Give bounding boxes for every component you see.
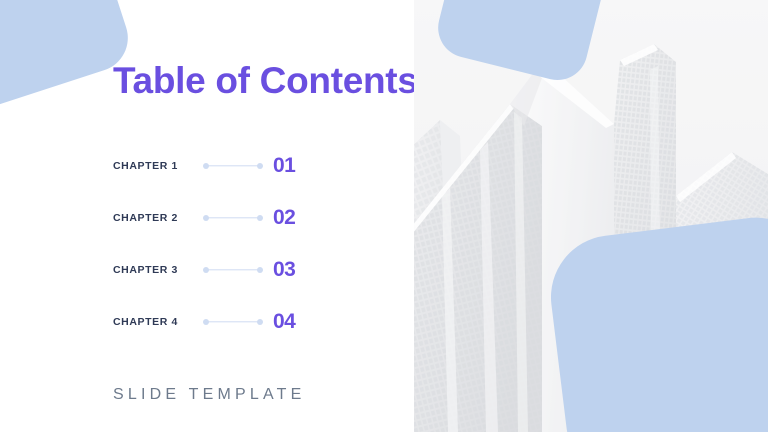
- connector-dot-end: [257, 163, 263, 169]
- toc-row[interactable]: CHAPTER 4 04: [113, 296, 363, 348]
- toc-connector: [203, 265, 263, 275]
- toc-chapter-label: CHAPTER 1: [113, 160, 197, 172]
- content-panel: Table of Contents CHAPTER 1 01 CHAPTER 2: [0, 0, 414, 432]
- photo-panel: [414, 0, 768, 432]
- connector-line: [207, 217, 259, 218]
- toc-chapter-label: CHAPTER 3: [113, 264, 197, 276]
- connector-dot-end: [257, 267, 263, 273]
- slide-footer-text: SLIDE TEMPLATE: [113, 386, 305, 404]
- toc-chapter-label: CHAPTER 4: [113, 316, 197, 328]
- content-inner: Table of Contents CHAPTER 1 01 CHAPTER 2: [0, 0, 414, 432]
- toc-chapter-label: CHAPTER 2: [113, 212, 197, 224]
- toc-chapter-number: 01: [273, 154, 295, 178]
- toc-row[interactable]: CHAPTER 3 03: [113, 244, 363, 296]
- slide-canvas: Table of Contents CHAPTER 1 01 CHAPTER 2: [0, 0, 768, 432]
- toc-connector: [203, 317, 263, 327]
- table-of-contents-list: CHAPTER 1 01 CHAPTER 2 02: [113, 140, 363, 348]
- toc-chapter-number: 04: [273, 310, 295, 334]
- toc-chapter-number: 02: [273, 206, 295, 230]
- connector-line: [207, 269, 259, 270]
- toc-connector: [203, 213, 263, 223]
- toc-chapter-number: 03: [273, 258, 295, 282]
- connector-dot-end: [257, 215, 263, 221]
- page-title: Table of Contents: [113, 62, 414, 99]
- connector-dot-end: [257, 319, 263, 325]
- connector-line: [207, 321, 259, 322]
- toc-row[interactable]: CHAPTER 2 02: [113, 192, 363, 244]
- toc-row[interactable]: CHAPTER 1 01: [113, 140, 363, 192]
- connector-line: [207, 165, 259, 166]
- toc-connector: [203, 161, 263, 171]
